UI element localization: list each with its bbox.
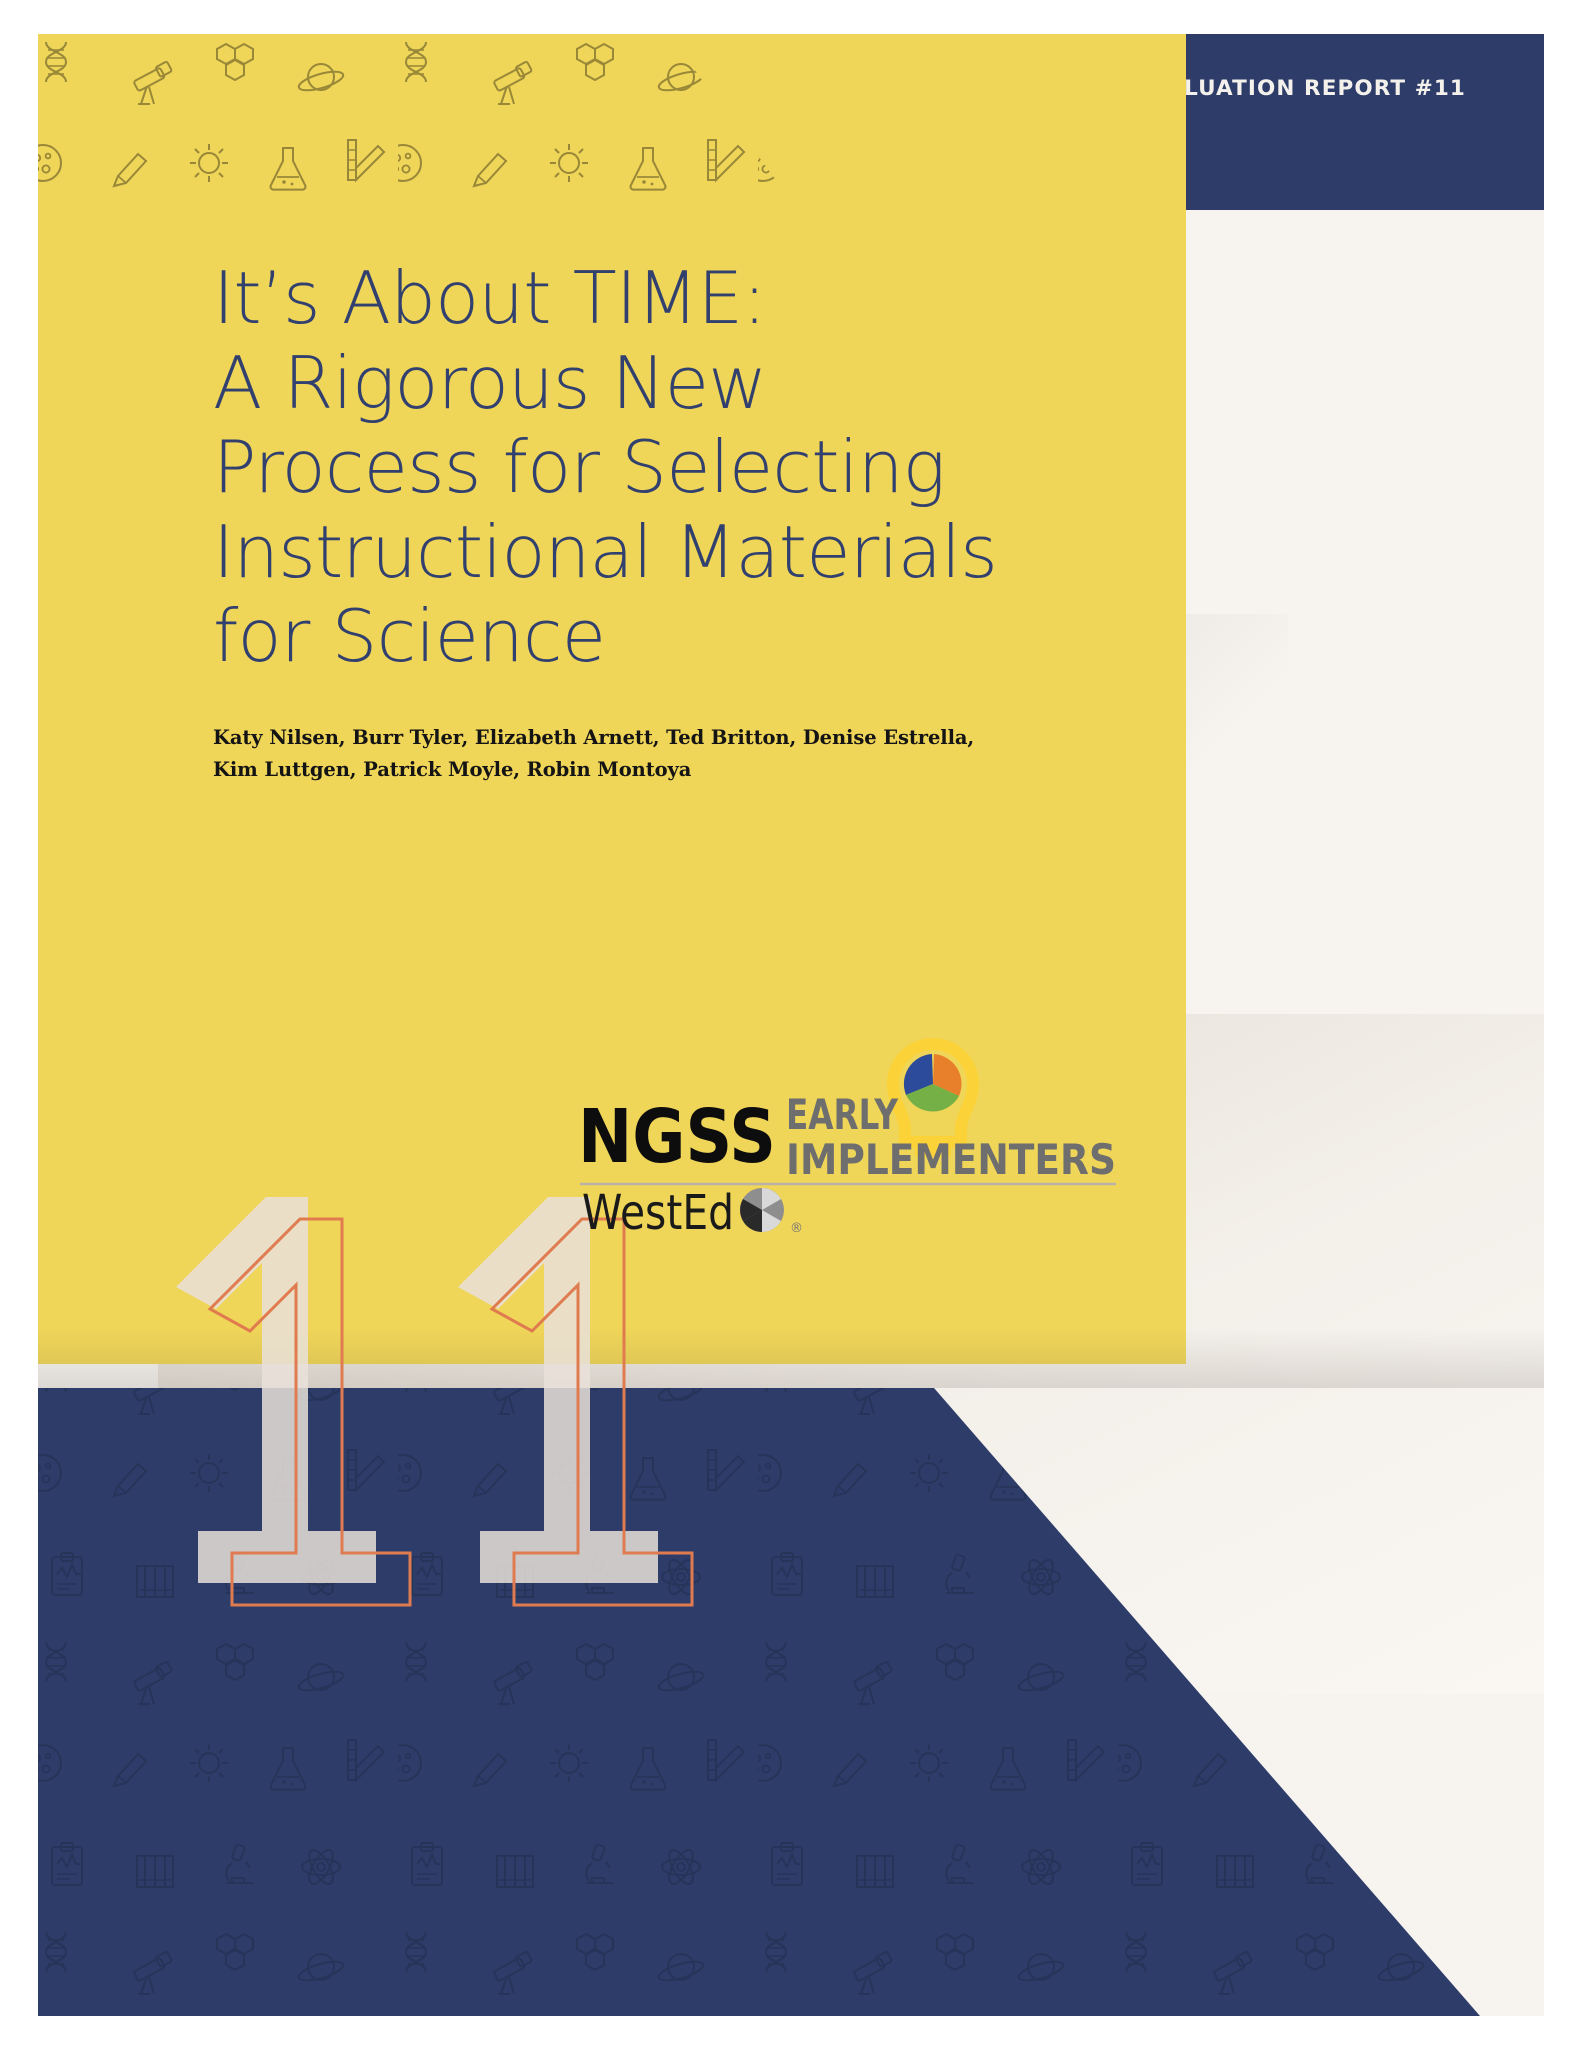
logo-ngss-text: NGSS [578, 1094, 776, 1180]
cover-canvas: JUNE 2020 | EVALUATION REPORT #11 It’s A… [38, 34, 1544, 2016]
page-title: It’s About TIME: A Rigorous New Process … [213, 256, 1113, 679]
author-list: Katy Nilsen, Burr Tyler, Elizabeth Arnet… [213, 722, 993, 785]
wested-pinwheel-icon [740, 1188, 784, 1232]
logo-early-text: EARLY [786, 1090, 898, 1139]
logo-wested-text: WestEd [582, 1185, 734, 1239]
logo-implementers-text: IMPLEMENTERS [786, 1135, 1116, 1184]
logo-trademark: ® [790, 1221, 803, 1236]
report-cover-page: JUNE 2020 | EVALUATION REPORT #11 It’s A… [0, 0, 1582, 2048]
ngss-early-implementers-logo: NGSS EARLY IMPLEMENTERS WestEd ® [578, 1024, 1118, 1239]
issue-number-shadow [176, 1197, 658, 1583]
